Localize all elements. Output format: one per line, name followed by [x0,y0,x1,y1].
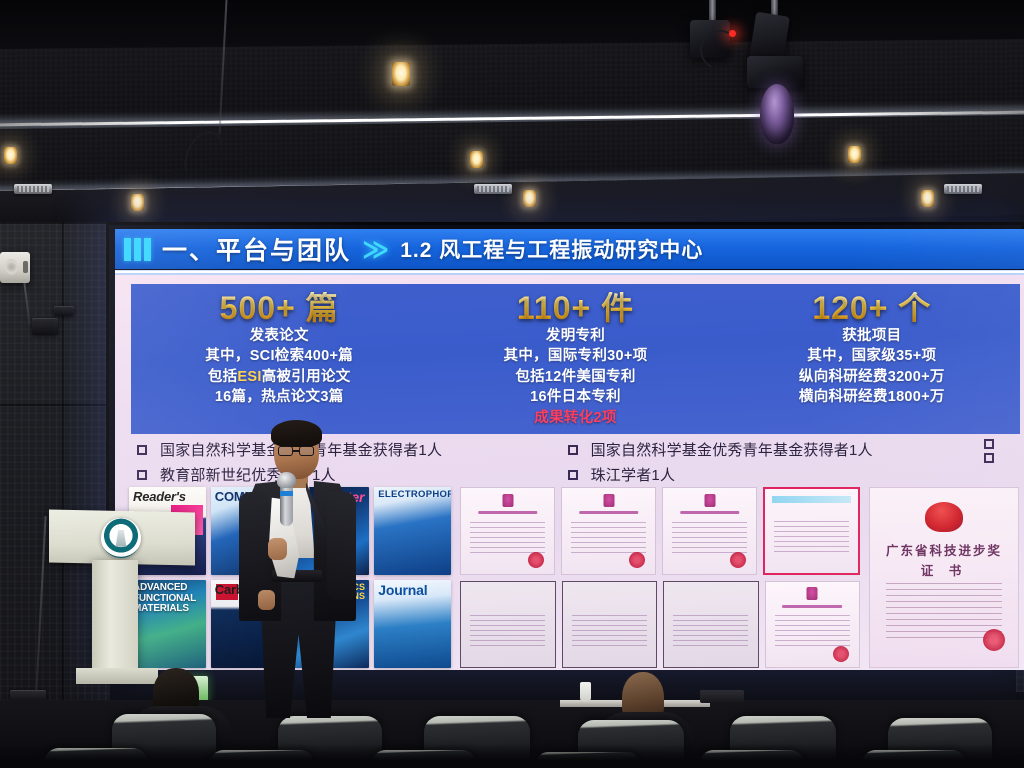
patent-certificate-grid [460,487,860,668]
cert-heading-bar [478,511,538,514]
patent-certificate-highlighted [763,487,860,575]
ceiling-downlight [921,190,934,207]
talent-bullet-list: 国家自然科学基金杰出青年基金获得者1人 教育部新世纪优秀人才1人 国家自然科学基… [131,439,1024,485]
laptop [700,690,744,703]
patent-certificate [460,487,555,575]
bullet-text: 国家自然科学基金优秀青年基金获得者1人 [591,439,873,460]
square-bullet-icon [568,445,578,455]
red-seal-icon [730,552,746,568]
emblem-icon [704,494,715,507]
journal-title: Journal [378,583,448,598]
speaker-hand-lower [258,590,275,610]
cert-heading-bar [680,511,740,514]
square-bullet-icon [137,470,147,480]
red-seal-icon [528,552,544,568]
wall-seam [0,404,110,406]
podium-base [76,668,158,684]
cert-text-lines [572,614,647,647]
award-title-line-2: 证 书 [870,560,1018,579]
stat-detail-line: 其中，国家级35+项 [724,346,1020,367]
list-item: 珠江学者1人 [568,464,985,485]
speaker-arm-right [327,492,356,600]
stat-headline: 500+ 篇 [131,292,427,326]
emblem-icon [603,494,614,507]
ceiling-downlight [131,194,144,211]
emblem-icon [502,494,513,507]
emblem-icon [807,587,818,600]
microphone-band [280,491,293,496]
stat-headline: 110+ 件 [427,292,723,326]
air-conditioner [0,252,30,283]
slide-title-bar: 一、平台与团队 ≫ 1.2 风工程与工程振动研究中心 [115,229,1024,269]
list-item [984,439,1024,449]
stat-detail-line: 16篇，热点论文3篇 [131,387,427,408]
slide-section-title: 一、平台与团队 [162,231,351,267]
ceiling-downlight [470,151,483,168]
cert-text-lines [775,614,850,647]
cert-heading-bar [782,605,842,608]
red-seal-icon [629,552,645,568]
patent-row [460,487,860,575]
stat-detail-line: 16件日本专利 [427,387,723,408]
bullet-column-right-cutoff [984,439,1024,485]
stat-headline: 120+ 个 [724,292,1020,326]
red-seal-icon [833,646,849,662]
patent-document [562,581,658,669]
stat-column-patents: 110+ 件 发明专利 其中，国际专利30+项 包括12件美国专利 16件日本专… [427,284,723,434]
patent-row [460,581,860,669]
patent-certificate [561,487,656,575]
cert-blue-header [772,496,850,504]
ceiling-downlight [392,62,410,86]
stat-detail-line: 其中，国际专利30+项 [427,346,723,367]
title-bars-icon [124,238,151,261]
ceiling-downlight [848,146,861,163]
eyeglasses-bridge [293,450,299,452]
patent-certificate [765,581,861,669]
statistics-panel: 500+ 篇 发表论文 其中，SCI检索400+篇 包括ESI高被引用论文 16… [131,284,1020,434]
journal-title: ELECTROPHORESIS [378,490,448,500]
bullet-text: 珠江学者1人 [591,464,676,485]
stat-detail-line-highlight: 成果转化2项 [427,408,723,429]
square-bullet-icon [984,453,994,463]
stat-caption: 发明专利 [427,326,723,347]
air-vent [474,184,512,194]
podium-column [92,560,138,678]
cert-text-lines [470,614,545,647]
cert-text-lines [571,520,645,553]
ceiling-downlight [4,147,17,164]
eyeglasses-icon [278,446,293,456]
stat-detail-line: 包括12件美国专利 [427,367,723,388]
speaker-hand-upper [268,538,287,560]
stat-column-projects: 120+ 个 获批项目 其中，国家级35+项 纵向科研经费3200+万 横向科研… [724,284,1020,434]
eyeglasses-icon [299,446,314,456]
award-title-line-1: 广东省科技进步奖 [870,540,1018,559]
conference-hall-photo: 一、平台与团队 ≫ 1.2 风工程与工程振动研究中心 500+ 篇 发表论文 其… [0,0,1024,768]
cert-text-lines [672,520,746,553]
bullet-column-left: 国家自然科学基金杰出青年基金获得者1人 教育部新世纪优秀人才1人 [131,439,568,485]
journal-cover: ADVANCED FUNCTIONAL MATERIALS [129,580,206,668]
patent-certificate [662,487,757,575]
list-item: 国家自然科学基金优秀青年基金获得者1人 [568,439,985,460]
ceiling-downlight [523,190,536,207]
power-outlet [54,306,74,316]
square-bullet-icon [984,439,994,449]
stat-caption: 获批项目 [724,326,1020,347]
stat-detail-line: 其中，SCI检索400+篇 [131,346,427,367]
microphone-head-icon [277,472,296,488]
journal-cover: ELECTROPHORESIS [374,487,451,575]
medal-icon [925,502,963,532]
patent-document [663,581,759,669]
stat-detail-line: 横向科研经费1800+万 [724,387,1020,408]
slide-subtitle: 1.2 风工程与工程振动研究中心 [400,234,703,264]
list-item: 教育部新世纪优秀人才1人 [137,464,568,485]
journal-title: ADVANCED FUNCTIONAL MATERIALS [133,583,203,615]
cert-heading-bar [579,511,639,514]
power-outlet [32,318,58,335]
projector-lens-icon [760,84,794,144]
paper-cup [580,682,591,702]
patent-document [460,581,556,669]
cert-text-lines [470,520,544,553]
award-text-lines [886,579,1001,638]
air-vent [944,184,982,194]
foreground-vignette [0,744,1024,768]
list-item [984,453,1024,463]
speaker-hair [271,420,322,447]
cert-text-lines [774,521,848,553]
bullet-column-middle: 国家自然科学基金优秀青年基金获得者1人 珠江学者1人 [568,439,985,485]
red-seal-icon [983,629,1005,651]
stat-caption: 发表论文 [131,326,427,347]
stat-detail-line: 包括ESI高被引用论文 [131,367,427,388]
square-bullet-icon [568,470,578,480]
university-emblem-icon [101,518,141,558]
list-item: 国家自然科学基金杰出青年基金获得者1人 [137,439,568,460]
highlight-esi: ESI [237,369,261,385]
award-certificate: 广东省科技进步奖 证 书 [869,487,1019,668]
stat-detail-line: 纵向科研经费3200+万 [724,367,1020,388]
air-vent [14,184,52,194]
journal-cover: Journal [374,580,451,668]
speaker-arm-left [239,492,268,600]
wall-seam [0,222,110,224]
cert-text-lines [673,614,748,647]
journal-title: Reader's [133,490,203,504]
wall-seam [62,222,64,708]
square-bullet-icon [137,445,147,455]
stat-column-papers: 500+ 篇 发表论文 其中，SCI检索400+篇 包括ESI高被引用论文 16… [131,284,427,434]
chevron-double-right-icon: ≫ [362,236,389,262]
